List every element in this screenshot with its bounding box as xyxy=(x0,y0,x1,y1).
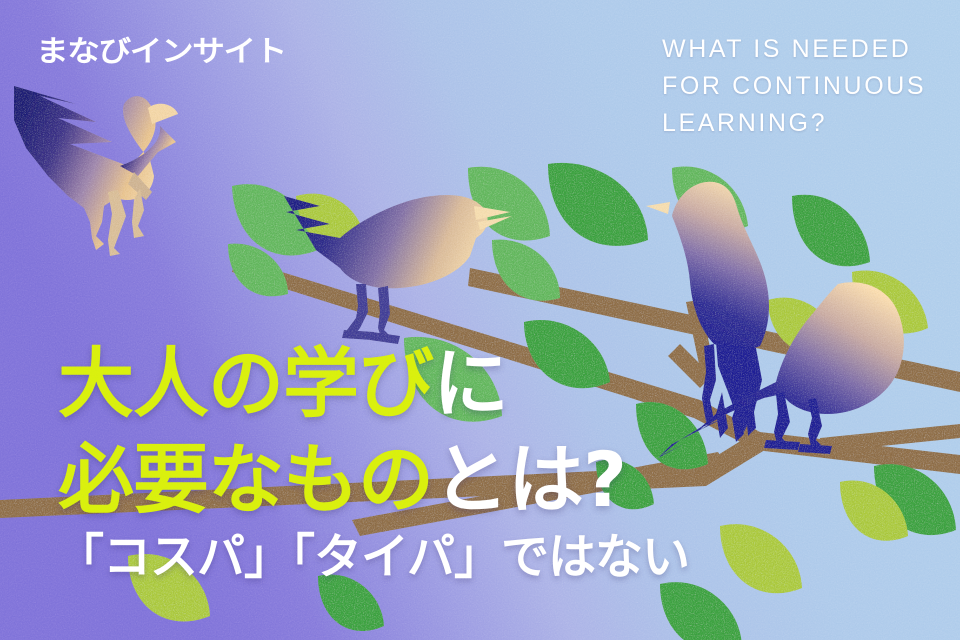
logo-text: まなびインサイト xyxy=(36,34,286,68)
page-subtitle: 「コスパ」「タイパ」ではない xyxy=(56,528,689,586)
eyebrow-tagline: WHAT IS NEEDED FOR CONTINUOUS LEARNING? xyxy=(662,31,926,142)
headline-line-1: 大人の学びに xyxy=(58,336,626,432)
hero-banner: まなびインサイト WHAT IS NEEDED FOR CONTINUOUS L… xyxy=(0,0,960,640)
headline-line-2-white: とは? xyxy=(433,435,626,524)
headline-line-1-white: に xyxy=(433,339,508,428)
headline-line-2-lime: 必要なもの xyxy=(58,435,433,524)
headline-line-2: 必要なものとは? xyxy=(58,432,626,528)
page-title: 大人の学びに 必要なものとは? xyxy=(58,336,626,528)
manabi-insight-logo[interactable]: まなびインサイト xyxy=(36,33,292,69)
headline-line-1-lime: 大人の学び xyxy=(58,339,433,428)
